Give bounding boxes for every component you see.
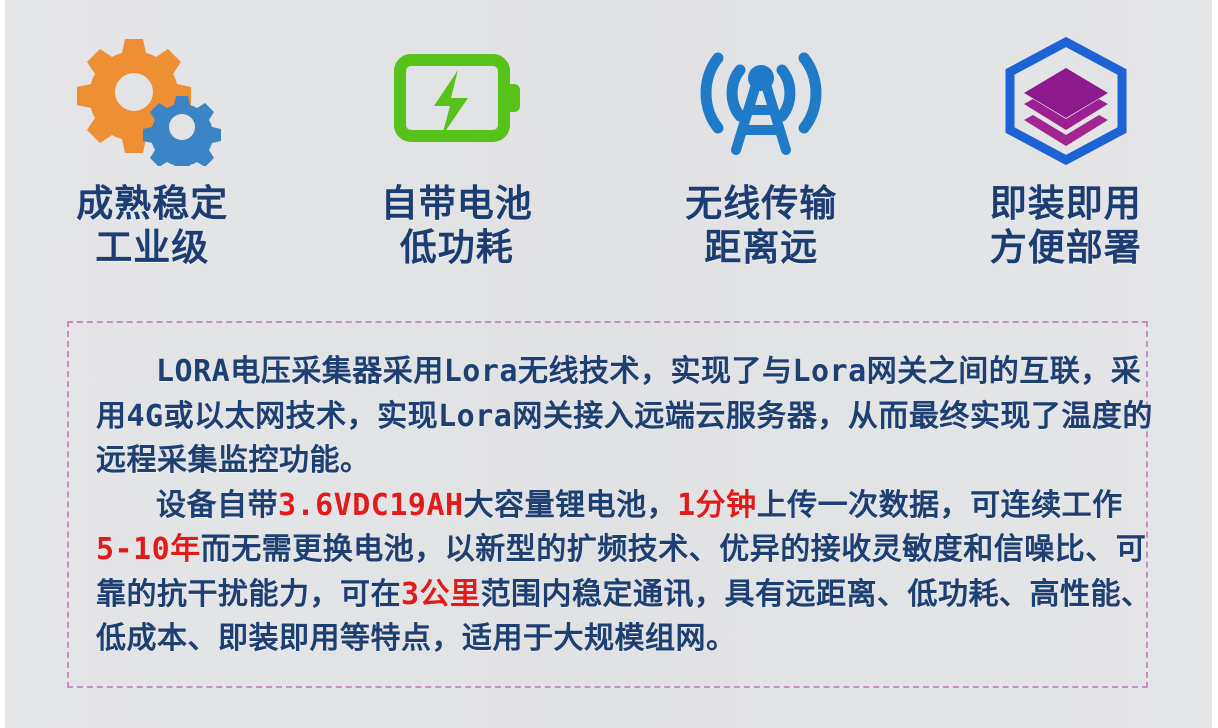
feature-line2: 低功耗 (381, 226, 533, 270)
feature-row: 成熟稳定 工业级 自带电池 低功耗 (0, 0, 1218, 312)
hexagon-layers-icon (991, 34, 1141, 166)
feature-line2: 工业级 (76, 226, 228, 270)
feature-label-wireless: 无线传输 距离远 (685, 182, 837, 270)
feature-line1: 自带电池 (381, 182, 533, 226)
feature-label-deployment: 即装即用 方便部署 (990, 182, 1142, 270)
feature-line2: 方便部署 (990, 226, 1142, 270)
text-run: 设备自带 (156, 488, 278, 523)
feature-item-battery: 自带电池 低功耗 (305, 0, 610, 312)
description-text: LORA电压采集器采用Lora无线技术，实现了与Lora网关之间的互联，采用4G… (96, 350, 1156, 662)
feature-line1: 成熟稳定 (76, 182, 228, 226)
feature-item-wireless: 无线传输 距离远 (609, 0, 914, 312)
text-run: 上传一次数据，可连续工作 (757, 488, 1123, 523)
text-run: LORA电压采集器采用Lora无线技术，实现了与Lora网关之间的互联，采用4G… (96, 354, 1153, 478)
battery-charging-icon (382, 34, 532, 166)
feature-label-reliability: 成熟稳定 工业级 (76, 182, 228, 270)
feature-item-reliability: 成熟稳定 工业级 (0, 0, 305, 312)
highlighted-term: 1分钟 (677, 488, 757, 523)
description-paragraph-1: LORA电压采集器采用Lora无线技术，实现了与Lora网关之间的互联，采用4G… (96, 350, 1156, 484)
feature-item-deployment: 即装即用 方便部署 (914, 0, 1218, 312)
text-run: 大容量锂电池， (464, 488, 678, 523)
highlighted-term: 3公里 (401, 577, 481, 612)
feature-line1: 即装即用 (990, 182, 1142, 226)
gears-icon (77, 34, 227, 166)
feature-label-battery: 自带电池 低功耗 (381, 182, 533, 270)
highlighted-term: 3.6VDC19AH (278, 488, 464, 523)
slide-root: 成熟稳定 工业级 自带电池 低功耗 (0, 0, 1218, 728)
description-paragraph-2: 设备自带3.6VDC19AH大容量锂电池，1分钟上传一次数据，可连续工作5-10… (96, 484, 1156, 662)
feature-line1: 无线传输 (685, 182, 837, 226)
highlighted-term: 5-10年 (96, 532, 201, 567)
wireless-tower-icon (686, 34, 836, 166)
feature-line2: 距离远 (685, 226, 837, 270)
